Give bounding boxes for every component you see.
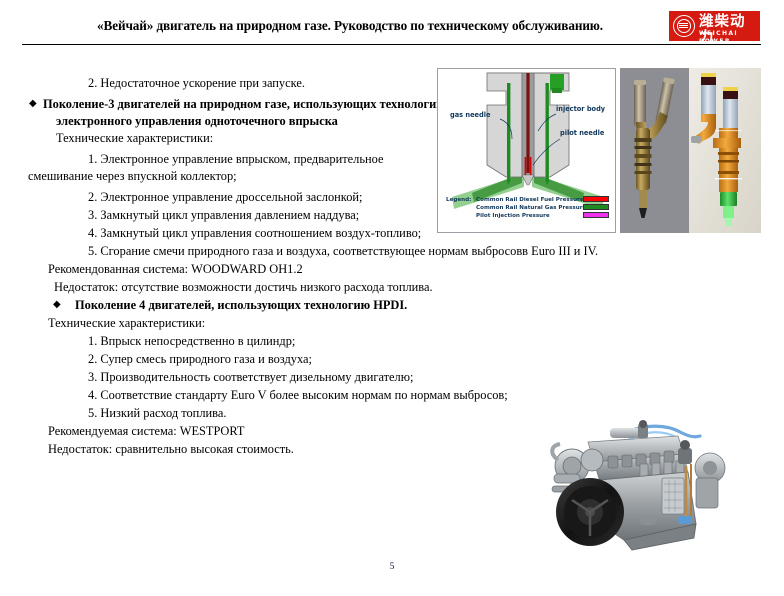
body-line-19: Рекомендуемая система: WESTPORT [48,424,244,438]
body-line-0: 2. Недостаточное ускорение при запуске. [88,76,305,90]
diagram-label-gas-needle: gas needle [450,111,490,119]
page-title: «Вейчай» двигатель на природном газе. Ру… [0,18,700,34]
body-line-7: 3. Замкнутый цикл управления давлением н… [88,208,359,222]
body-line-5: смешивание через впускной коллектор; [28,169,237,183]
weichai-power-logo: 潍柴动力 WEICHAI POWER [669,11,760,41]
injector-photograph [620,68,689,233]
page-header: «Вейчай» двигатель на природном газе. Ру… [0,0,784,48]
legend-swatch-natural-gas [583,204,609,210]
body-line-4: 1. Электронное управление впрыском, пред… [88,152,383,166]
body-line-3: Технические характеристики: [56,131,213,145]
body-line-20: Недостаток: сравнительно высокая стоимос… [48,442,294,456]
body-line-2: электронного управления одноточечного вп… [56,114,338,128]
body-line-17: 4. Соответствие стандарту Euro V более в… [88,388,508,402]
page-number: 5 [0,562,784,572]
body-line-16: 3. Производительность соответствует дизе… [88,370,413,384]
weichai-emblem-icon [673,15,695,37]
diamond-bullet-icon-0: ◆ [29,97,37,111]
diagram-label-injector-body: injector body [556,105,605,113]
injector-cross-section-diagram: gas needle injector body pilot needle Le… [437,68,616,233]
body-line-13: Технические характеристики: [48,316,205,330]
header-divider [22,44,761,45]
body-line-9: 5. Сгорание смечи природного газа и возд… [88,244,598,258]
injector-cad-svg [689,68,761,233]
injector-cad-cutaway-image [689,68,761,233]
body-line-12: Поколение 4 двигателей, использующих тех… [75,298,407,312]
legend-label-diesel: Common Rail Diesel Fuel Pressure [476,197,584,203]
engine-photograph [528,420,764,555]
body-line-11: Недостаток: отсутствие возможности дости… [54,280,433,294]
legend-swatch-pilot [583,212,609,218]
legend-swatch-diesel [583,196,609,202]
body-line-15: 2. Супер смесь природного газа и воздуха… [88,352,312,366]
legend-title: Legend: [446,197,471,203]
diagram-label-pilot-needle: pilot needle [560,129,604,137]
engine-photo-svg [528,420,764,555]
body-line-14: 1. Впрыск непосредственно в цилиндр; [88,334,295,348]
legend-label-pilot: Pilot Injection Pressure [476,213,550,219]
body-line-10: Рекомендованная система: WOODWARD OH1.2 [48,262,303,276]
body-line-18: 5. Низкий расход топлива. [88,406,226,420]
body-line-8: 4. Замкнутый цикл управления соотношение… [88,226,421,240]
logo-english-text: WEICHAI POWER [699,30,760,41]
legend-label-natural-gas: Common Rail Natural Gas Pressure [476,205,586,211]
body-line-6: 2. Электронное управление дроссельной за… [88,190,362,204]
diamond-bullet-icon-1: ◆ [53,298,61,312]
body-line-1: Поколение-3 двигателей на природном газе… [43,97,446,111]
injector-photo-svg [620,68,689,233]
